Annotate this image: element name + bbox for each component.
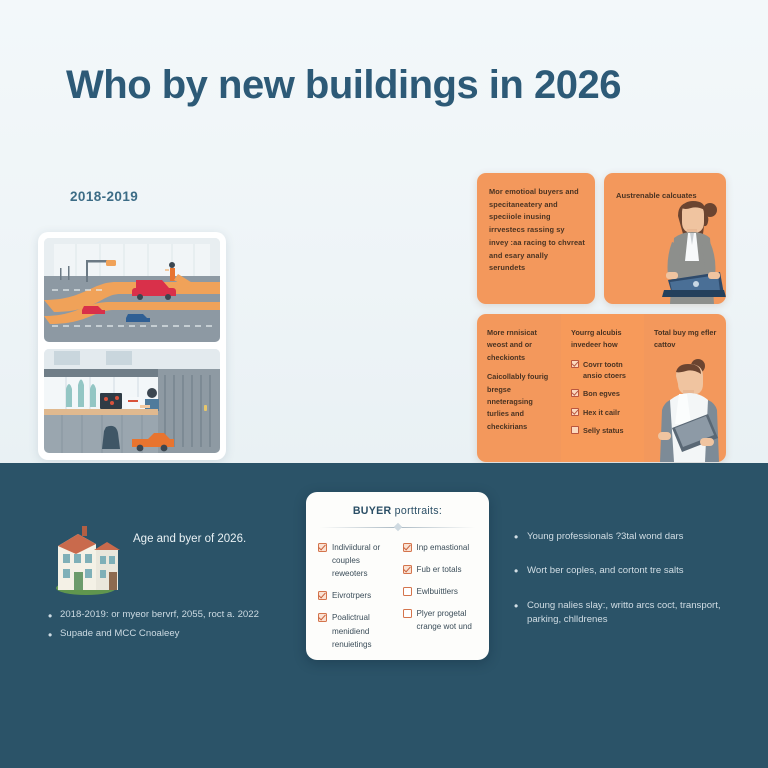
total-buying-heading: Total buy mg efler cattov xyxy=(654,327,719,352)
infographic-poster: Who by new buildings in 2026 2018-2019 xyxy=(0,0,768,768)
panel-column-young-adults: Yourrg alcubis invedeer how Covrr tootn … xyxy=(561,314,644,462)
person-with-tablet-illustration xyxy=(654,358,726,462)
list-item[interactable]: Inp emastional xyxy=(403,541,478,554)
list-item[interactable]: Poalictrual menidiend renuietings xyxy=(318,611,393,650)
checklist-item-label: Hex it cailr xyxy=(583,407,620,418)
check-icon[interactable] xyxy=(571,360,579,368)
check-icon[interactable] xyxy=(571,408,579,416)
list-item: Wort ber coples, and cortont tre salts xyxy=(512,564,757,578)
check-icon[interactable] xyxy=(403,543,412,552)
house-illustration xyxy=(50,524,122,596)
divider-diamond-icon xyxy=(393,523,401,531)
list-item-label: Inp emastional xyxy=(417,541,470,554)
checklist-item-label: Covrr tootn ansio ctoers xyxy=(583,359,637,382)
checklist-item-label: Bon egves xyxy=(583,388,620,399)
check-icon[interactable] xyxy=(403,565,412,574)
list-item-label: Ewlbuittlers xyxy=(417,585,458,598)
page-title: Who by new buildings in 2026 xyxy=(66,62,726,108)
person-with-laptop-illustration xyxy=(652,196,726,304)
list-item: Coung nalies slay:, writto arcs coct, tr… xyxy=(512,599,757,628)
checklist-item[interactable]: Covrr tootn ansio ctoers xyxy=(571,359,637,382)
buyer-portraits-columns: Indiviidural or couples reweoters Eivrot… xyxy=(318,541,477,660)
list-item-label: Eivrotrpers xyxy=(332,589,371,602)
bottom-left-headline: Age and byer of 2026. xyxy=(133,533,246,545)
check-icon[interactable] xyxy=(318,543,327,552)
checklists-paragraph-1: More rnnisicat weost and or checkionts xyxy=(487,327,554,364)
card-emotional-buyers-text: Mor emotioal buyers and specitaneatery a… xyxy=(477,173,595,275)
checkbox-icon[interactable] xyxy=(403,587,412,596)
buyer-portraits-right-column: Inp emastional Fub er totals Ewlbuittler… xyxy=(403,541,478,660)
list-item[interactable]: Fub er totals xyxy=(403,563,478,576)
buyer-portraits-title-rest: porttraits: xyxy=(391,505,442,517)
buyer-portraits-title: BUYER porttraits: xyxy=(318,505,477,517)
buyer-portraits-left-column: Indiviidural or couples reweoters Eivrot… xyxy=(318,541,393,660)
checkbox-icon[interactable] xyxy=(403,609,412,618)
orange-info-panel: More rnnisicat weost and or checkionts C… xyxy=(477,314,726,462)
panel-column-checklists: More rnnisicat weost and or checkionts C… xyxy=(477,314,561,462)
card-affordable-calculator[interactable]: Austrenable calcuates xyxy=(604,173,726,304)
buyer-portraits-title-strong: BUYER xyxy=(353,505,392,517)
list-item: Young professionals ?3tal wond dars xyxy=(512,530,757,544)
list-item-label: Indiviidural or couples reweoters xyxy=(332,541,393,580)
list-item-label: Plyer progetal crange wot und xyxy=(417,607,478,633)
buyer-portraits-card: BUYER porttraits: Indiviidural or couple… xyxy=(306,492,489,660)
checklist-item[interactable]: Hex it cailr xyxy=(571,407,637,418)
list-item[interactable]: Ewlbuittlers xyxy=(403,585,478,598)
list-item: 2018-2019: or myeor bervrf, 2055, roct a… xyxy=(46,608,296,622)
checkbox-icon[interactable] xyxy=(571,426,579,434)
checklists-paragraph-2: Caicollably fourig bregse nneteragsing t… xyxy=(487,371,554,433)
checklist-item-label: Selly status xyxy=(583,425,624,436)
checklist-item[interactable]: Selly status xyxy=(571,425,637,436)
bottom-left-bullets: 2018-2019: or myeor bervrf, 2055, roct a… xyxy=(46,608,296,647)
bottom-right-bullets: Young professionals ?3tal wond dars Wort… xyxy=(512,530,757,648)
shop-interior-illustration xyxy=(44,349,220,453)
panel-column-total-buying: Total buy mg efler cattov xyxy=(644,314,726,462)
list-item: Supade and MCC Cnoaleey xyxy=(46,627,296,641)
list-item[interactable]: Indiviidural or couples reweoters xyxy=(318,541,393,580)
young-adults-checklist: Covrr tootn ansio ctoers Bon egves Hex i… xyxy=(571,359,637,436)
young-adults-heading: Yourrg alcubis invedeer how xyxy=(571,327,637,352)
check-icon[interactable] xyxy=(571,389,579,397)
list-item-label: Fub er totals xyxy=(417,563,462,576)
check-icon[interactable] xyxy=(318,613,327,622)
list-item-label: Poalictrual menidiend renuietings xyxy=(332,611,393,650)
illustration-card xyxy=(38,232,226,460)
period-label: 2018-2019 xyxy=(70,189,138,204)
card-emotional-buyers[interactable]: Mor emotioal buyers and specitaneatery a… xyxy=(477,173,595,304)
list-item[interactable]: Plyer progetal crange wot und xyxy=(403,607,478,633)
list-item[interactable]: Eivrotrpers xyxy=(318,589,393,602)
divider xyxy=(320,523,475,532)
checklist-item[interactable]: Bon egves xyxy=(571,388,637,399)
check-icon[interactable] xyxy=(318,591,327,600)
road-intersection-illustration xyxy=(44,238,220,342)
